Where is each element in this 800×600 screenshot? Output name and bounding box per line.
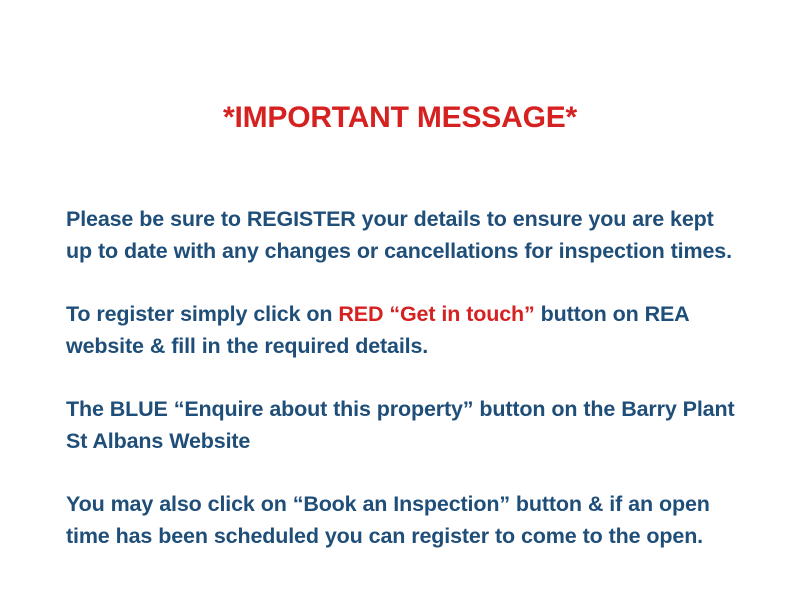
page-title: *IMPORTANT MESSAGE* bbox=[0, 100, 800, 136]
slide-body: Please be sure to REGISTER your details … bbox=[66, 203, 738, 552]
paragraph-rea-get-in-touch: To register simply click on RED “Get in … bbox=[66, 298, 738, 362]
highlight-red-get-in-touch: RED “Get in touch” bbox=[338, 302, 534, 326]
paragraph-text-blue: The BLUE “Enquire about this property” b… bbox=[66, 397, 734, 453]
paragraph-text-blue-lead: To register simply click on bbox=[66, 302, 338, 326]
paragraph-register-details: Please be sure to REGISTER your details … bbox=[66, 203, 738, 267]
paragraph-text-blue: You may also click on “Book an Inspectio… bbox=[66, 492, 710, 548]
paragraph-barry-plant-enquire: The BLUE “Enquire about this property” b… bbox=[66, 393, 738, 457]
paragraph-text-blue: Please be sure to REGISTER your details … bbox=[66, 207, 732, 263]
paragraph-book-an-inspection: You may also click on “Book an Inspectio… bbox=[66, 488, 738, 552]
slide-canvas: *IMPORTANT MESSAGE* Please be sure to RE… bbox=[0, 0, 800, 600]
